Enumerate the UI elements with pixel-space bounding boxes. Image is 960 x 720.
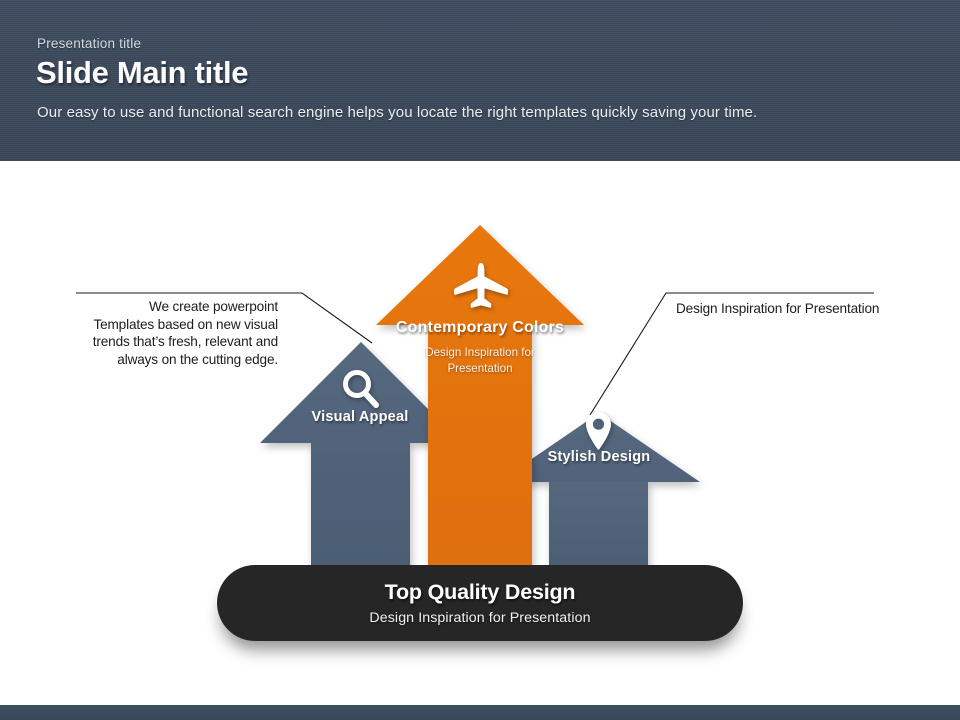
page-title: Slide Main title — [36, 55, 248, 91]
location-pin-icon — [584, 411, 613, 456]
bottom-banner[interactable]: Top Quality Design Design Inspiration fo… — [217, 565, 743, 641]
banner-title: Top Quality Design — [385, 580, 576, 605]
callout-text-left: We create powerpoint Templates based on … — [92, 298, 278, 368]
callout-text-right: Design Inspiration for Presentation — [676, 300, 896, 318]
slide-footer-band — [0, 705, 960, 720]
slide-canvas: Presentation title Slide Main title Our … — [0, 0, 960, 720]
slide-subtitle: Our easy to use and functional search en… — [37, 104, 757, 121]
presentation-title-eyebrow: Presentation title — [37, 36, 141, 51]
search-icon — [340, 368, 380, 415]
airplane-icon — [452, 262, 510, 315]
slide-header: Presentation title Slide Main title Our … — [0, 0, 960, 161]
banner-subtitle: Design Inspiration for Presentation — [369, 610, 590, 626]
arrow-right-shaft — [549, 482, 648, 570]
